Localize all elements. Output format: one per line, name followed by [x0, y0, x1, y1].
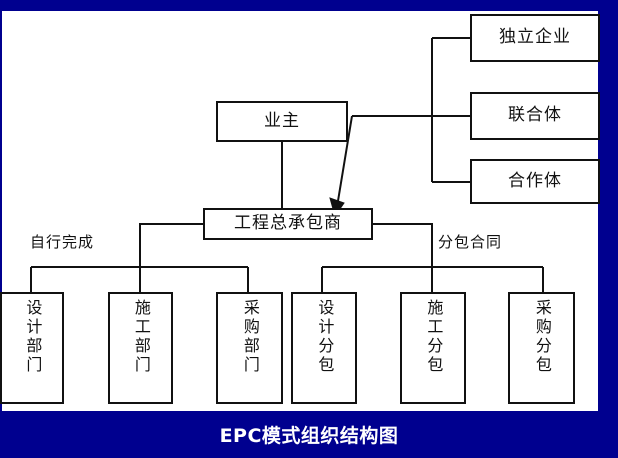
node-design-department[interactable]: 设计部门 — [0, 292, 64, 404]
node-procurement-subcontract[interactable]: 采购分包 — [508, 292, 575, 404]
diagram-canvas: 业主 工程总承包商 独立企业 联合体 合作体 设计部门 施工部门 采购部门 设计… — [0, 0, 618, 411]
node-design-subcontract-label: 设计分包 — [316, 299, 333, 375]
node-contractor-label: 工程总承包商 — [234, 215, 342, 233]
node-independent-enterprise[interactable]: 独立企业 — [470, 14, 600, 62]
link-contractor-right-branch — [373, 224, 432, 267]
node-procurement-department[interactable]: 采购部门 — [216, 292, 283, 404]
node-consortium[interactable]: 联合体 — [470, 92, 600, 140]
node-cooperative[interactable]: 合作体 — [470, 159, 600, 204]
node-construction-department-label: 施工部门 — [132, 299, 149, 375]
node-contractor[interactable]: 工程总承包商 — [203, 208, 373, 240]
node-construction-subcontract[interactable]: 施工分包 — [400, 292, 466, 404]
node-construction-subcontract-label: 施工分包 — [425, 299, 442, 375]
edge-label-subcontract: 分包合同 — [438, 231, 502, 252]
node-owner-label: 业主 — [264, 113, 300, 131]
node-consortium-label: 联合体 — [508, 107, 562, 125]
node-independent-enterprise-label: 独立企业 — [499, 29, 571, 47]
node-cooperative-label: 合作体 — [508, 173, 562, 191]
node-procurement-subcontract-label: 采购分包 — [533, 299, 550, 375]
node-owner[interactable]: 业主 — [216, 101, 348, 142]
node-procurement-department-label: 采购部门 — [241, 299, 258, 375]
slide-title: EPC模式组织结构图 — [220, 421, 399, 448]
node-design-department-label: 设计部门 — [24, 299, 41, 375]
node-construction-department[interactable]: 施工部门 — [108, 292, 173, 404]
node-design-subcontract[interactable]: 设计分包 — [291, 292, 357, 404]
edge-label-self-perform: 自行完成 — [30, 231, 94, 252]
link-contractor-left-branch — [140, 224, 203, 267]
slide-root: 业主 工程总承包商 独立企业 联合体 合作体 设计部门 施工部门 采购部门 设计… — [0, 0, 618, 458]
slide-title-bar: EPC模式组织结构图 — [0, 411, 618, 458]
